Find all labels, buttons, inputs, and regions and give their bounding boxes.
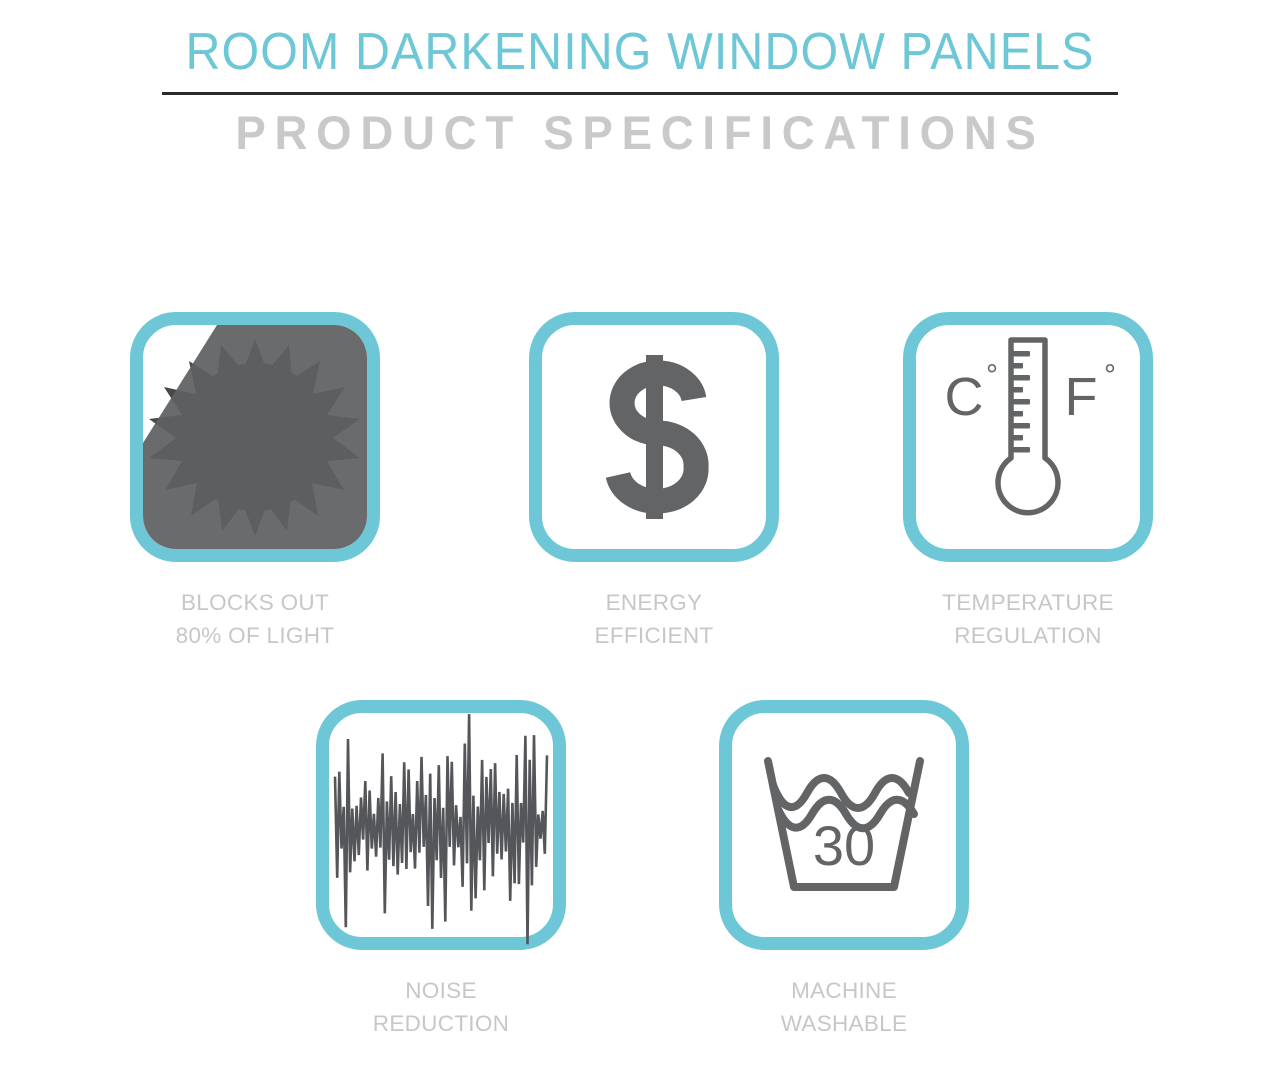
caption-line-2: REGULATION xyxy=(903,619,1153,652)
fahrenheit-label: F ° xyxy=(1065,359,1117,427)
header: ROOM DARKENING WINDOW PANELS PRODUCT SPE… xyxy=(0,22,1280,162)
celsius-letter: C xyxy=(945,367,984,427)
spec-caption: MACHINE WASHABLE xyxy=(719,974,969,1040)
spec-caption: TEMPERATURE REGULATION xyxy=(903,586,1153,652)
spec-card-noise-reduction[interactable]: NOISE REDUCTION xyxy=(316,700,566,1040)
icon-tile: 30 xyxy=(719,700,969,950)
spec-card-machine-washable[interactable]: 30 MACHINE WASHABLE xyxy=(719,700,969,1040)
thermometer-ticks xyxy=(1013,351,1030,453)
icon-tile: C ° F ° xyxy=(903,312,1153,562)
page-title: ROOM DARKENING WINDOW PANELS xyxy=(45,22,1235,82)
caption-line-2: WASHABLE xyxy=(719,1007,969,1040)
caption-line-1: NOISE xyxy=(316,974,566,1007)
spec-caption: ENERGY EFFICIENT xyxy=(529,586,779,652)
spec-card-energy-efficient[interactable]: ENERGY EFFICIENT xyxy=(529,312,779,652)
icon-tile xyxy=(529,312,779,562)
window-shade-panel xyxy=(143,325,367,549)
caption-line-1: MACHINE xyxy=(719,974,969,1007)
sun-behind-shade-icon xyxy=(143,325,367,549)
header-divider xyxy=(162,92,1118,95)
thermometer-icon: C ° F ° xyxy=(916,325,1140,549)
caption-line-1: ENERGY xyxy=(529,586,779,619)
spec-card-blocks-out-light[interactable]: BLOCKS OUT 80% OF LIGHT xyxy=(130,312,380,652)
dollar-sign-icon xyxy=(542,325,766,549)
sound-waveform-icon xyxy=(329,713,553,937)
fahrenheit-letter: F xyxy=(1065,367,1098,427)
spec-card-temperature-regulation[interactable]: C ° F ° TEMPERATURE REGULATION xyxy=(903,312,1153,652)
celsius-degree: ° xyxy=(986,359,998,392)
wash-temperature-label: 30 xyxy=(813,814,875,877)
page-subtitle: PRODUCT SPECIFICATIONS xyxy=(19,104,1261,162)
caption-line-1: TEMPERATURE xyxy=(903,586,1153,619)
caption-line-2: 80% OF LIGHT xyxy=(130,619,380,652)
icon-tile xyxy=(130,312,380,562)
caption-line-1: BLOCKS OUT xyxy=(130,586,380,619)
caption-line-2: EFFICIENT xyxy=(529,619,779,652)
caption-line-2: REDUCTION xyxy=(316,1007,566,1040)
spec-caption: BLOCKS OUT 80% OF LIGHT xyxy=(130,586,380,652)
wash-tub-icon: 30 xyxy=(732,713,956,937)
icon-tile xyxy=(316,700,566,950)
fahrenheit-degree: ° xyxy=(1104,359,1116,392)
spec-caption: NOISE REDUCTION xyxy=(316,974,566,1040)
celsius-label: C ° xyxy=(945,359,999,427)
